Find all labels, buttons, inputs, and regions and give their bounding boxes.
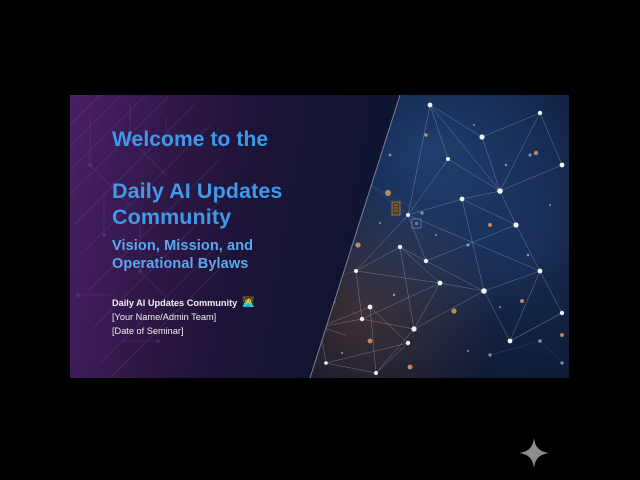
woman-technologist-emoji-icon: 👩‍💻 xyxy=(242,298,254,308)
video-frame: Welcome to the Daily AI Updates Communit… xyxy=(0,0,640,480)
welcome-heading: Welcome to the xyxy=(112,128,347,152)
footer-community-name: Daily AI Updates Community 👩‍💻 xyxy=(112,296,347,310)
footer-presenter-placeholder: [Your Name/Admin Team] xyxy=(112,310,347,324)
footer-date-placeholder: [Date of Seminar] xyxy=(112,324,347,338)
sparkle-star-icon xyxy=(519,438,549,468)
slide-footer: Daily AI Updates Community 👩‍💻 [Your Nam… xyxy=(112,296,347,339)
slide-text-block: Welcome to the Daily AI Updates Communit… xyxy=(112,128,347,339)
subtitle-line-1: Vision, Mission, and xyxy=(112,237,347,255)
subtitle-line-2: Operational Bylaws xyxy=(112,255,347,273)
chip-icon xyxy=(392,202,400,215)
footer-community-label: Daily AI Updates Community xyxy=(112,296,237,310)
community-title: Daily AI Updates Community xyxy=(112,178,347,230)
chip-outline-icon xyxy=(412,219,421,228)
presentation-slide: Welcome to the Daily AI Updates Communit… xyxy=(70,95,569,378)
